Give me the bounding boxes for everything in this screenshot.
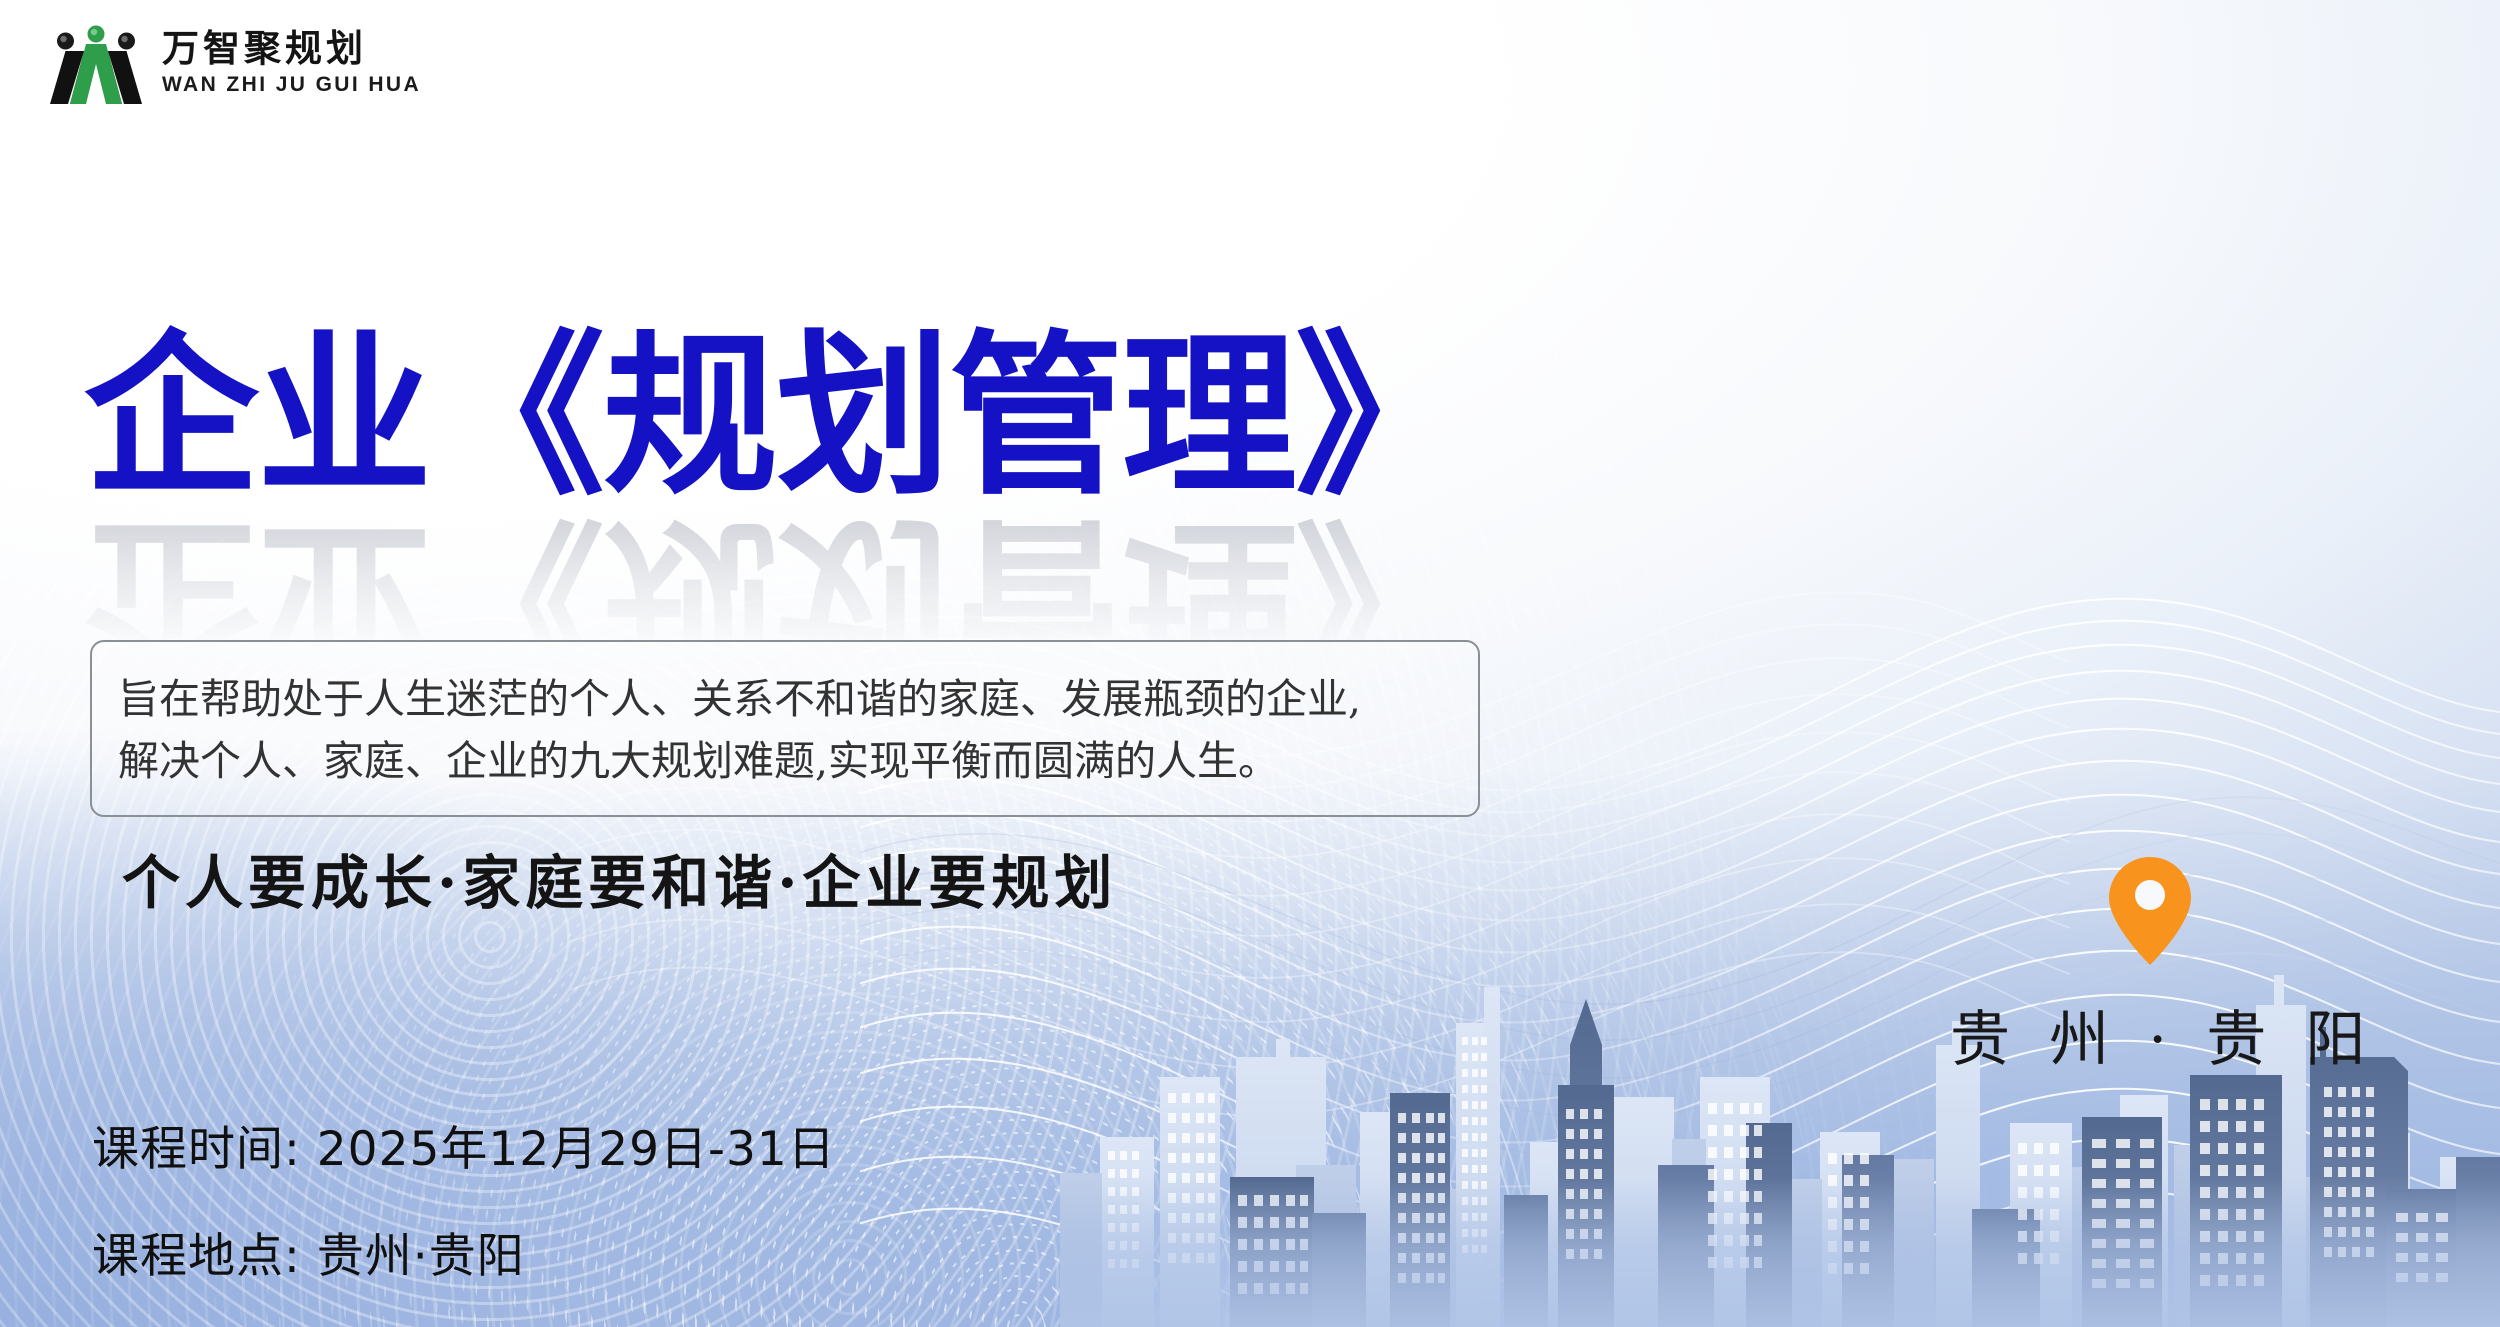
page-title: 企业《规划管理》: [84, 330, 1468, 505]
course-time: 课程时间: 2025年12月29日-31日: [92, 1110, 836, 1179]
poster-canvas: 万智聚规划 WAN ZHI JU GUI HUA 企业《规划管理》 企业《规划管…: [0, 0, 2500, 1327]
course-info-block: 课程时间: 2025年12月29日-31日 课程地点: 贵州·贵阳: [92, 1110, 836, 1286]
three-people-logo-icon: [44, 18, 148, 106]
brand-logo-text: 万智聚规划 WAN ZHI JU GUI HUA: [162, 30, 421, 95]
hero-title-block: 企业《规划管理》 企业《规划管理》: [84, 330, 1468, 684]
description-line-1: 旨在帮助处于人生迷茫的个人、关系不和谐的家庭、发展瓶颈的企业,: [118, 668, 1452, 730]
description-box: 旨在帮助处于人生迷茫的个人、关系不和谐的家庭、发展瓶颈的企业, 解决个人、家庭、…: [90, 640, 1480, 817]
map-pin-icon: [2107, 855, 2193, 967]
location-label: 贵 州 · 贵 阳: [1950, 991, 2350, 1078]
course-place: 课程地点: 贵州·贵阳: [92, 1217, 836, 1286]
location-block: 贵 州 · 贵 阳: [1950, 855, 2350, 1078]
slogan-text: 个人要成长·家庭要和谐·企业要规划: [122, 836, 1117, 920]
brand-name-en: WAN ZHI JU GUI HUA: [162, 74, 421, 95]
brand-name-cn: 万智聚规划: [162, 30, 421, 67]
brand-logo[interactable]: 万智聚规划 WAN ZHI JU GUI HUA: [44, 18, 421, 106]
description-line-2: 解决个人、家庭、企业的九大规划难题,实现平衡而圆满的人生。: [118, 730, 1452, 792]
